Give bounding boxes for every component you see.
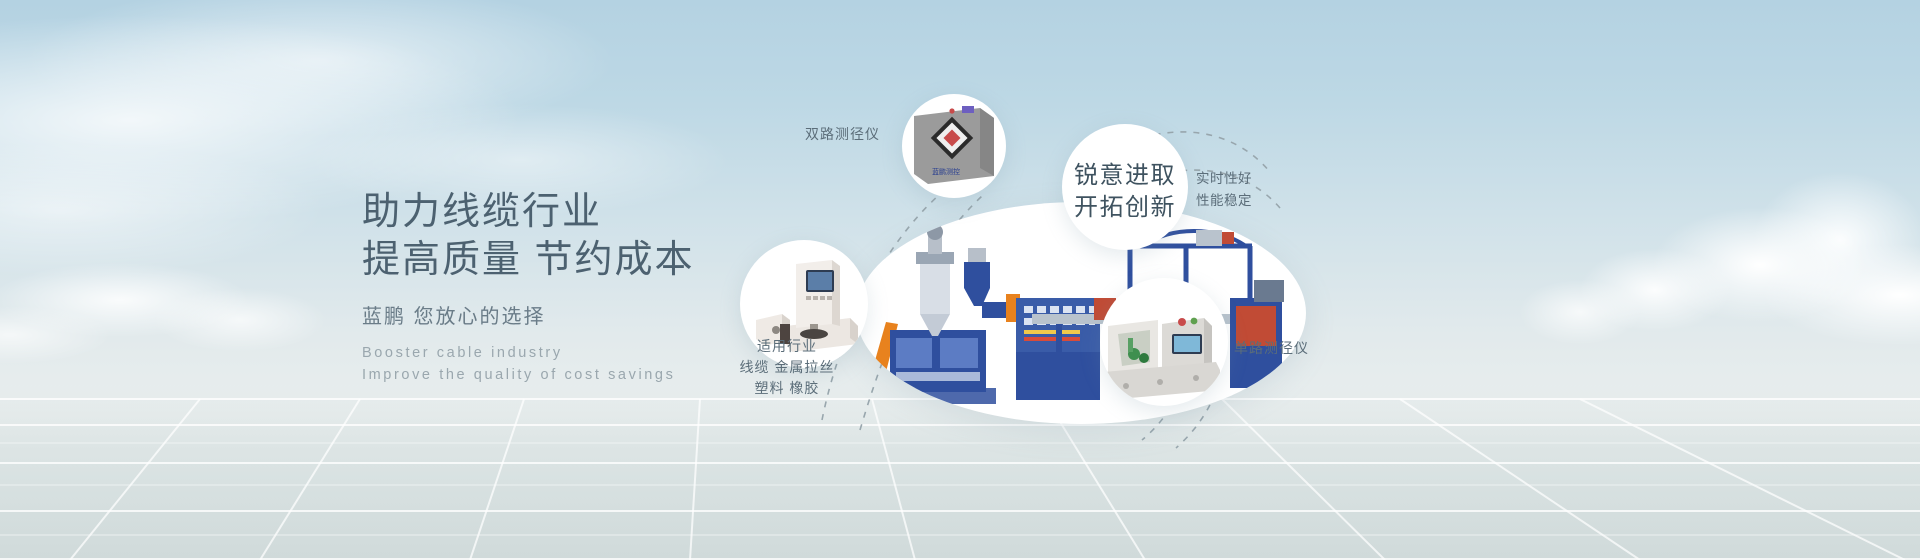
feature-list: 实时性好 性能稳定: [1196, 168, 1252, 212]
slogan-text: 锐意进取 开拓创新: [1062, 160, 1188, 224]
callout-bubble-dual-gauge: 蓝鹏测控: [902, 94, 1006, 198]
svg-text:蓝鹏测控: 蓝鹏测控: [932, 167, 960, 176]
dual-channel-diameter-gauge-illustration: 蓝鹏测控: [902, 94, 1006, 198]
headline-line-1: 助力线缆行业: [362, 191, 602, 233]
callout-bubble-production-line: [856, 202, 1306, 424]
feature-line-2: 性能稳定: [1196, 190, 1252, 212]
industries-line-1: 适用行业: [680, 336, 894, 357]
callout-bubble-single-gauge: [1100, 278, 1228, 406]
single-channel-diameter-gauge-illustration: [1100, 278, 1228, 406]
slogan-line-1: 锐意进取: [1062, 160, 1188, 192]
callout-label-single-gauge: 单路测径仪: [1234, 338, 1309, 359]
callout-label-dual-gauge: 双路测径仪: [710, 124, 880, 145]
product-composition: 蓝鹏测控 双路测径仪: [690, 0, 1920, 560]
hero-banner: 助力线缆行业 提高质量 节约成本 蓝鹏 您放心的选择 Booster cable…: [0, 0, 1920, 560]
industries-line-3: 塑料 橡胶: [680, 378, 894, 399]
slogan-line-2: 开拓创新: [1062, 192, 1188, 224]
feature-line-1: 实时性好: [1196, 168, 1252, 190]
industries-line-2: 线缆 金属拉丝: [680, 357, 894, 378]
callout-label-industries: 适用行业 线缆 金属拉丝 塑料 橡胶: [680, 336, 894, 399]
cable-extrusion-production-line-illustration: [856, 202, 1306, 424]
